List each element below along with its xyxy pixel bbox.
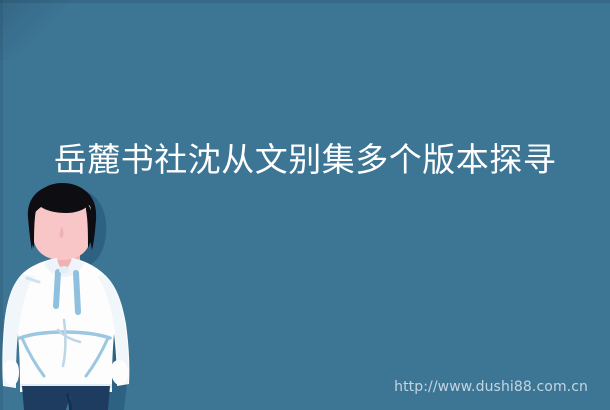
corner-vignette: [0, 0, 70, 60]
pants: [22, 386, 110, 410]
page-title: 岳麓书社沈从文别集多个版本探寻: [0, 140, 610, 180]
person-illustration: [0, 180, 150, 410]
watermark-url: http://www.dushi88.com.cn: [394, 379, 588, 395]
cover-image-canvas: 岳麓书社沈从文别集多个版本探寻 http://www.dushi88.com.c…: [0, 0, 610, 410]
hoodie: [2, 258, 129, 392]
top-edge-shade: [0, 0, 610, 3]
